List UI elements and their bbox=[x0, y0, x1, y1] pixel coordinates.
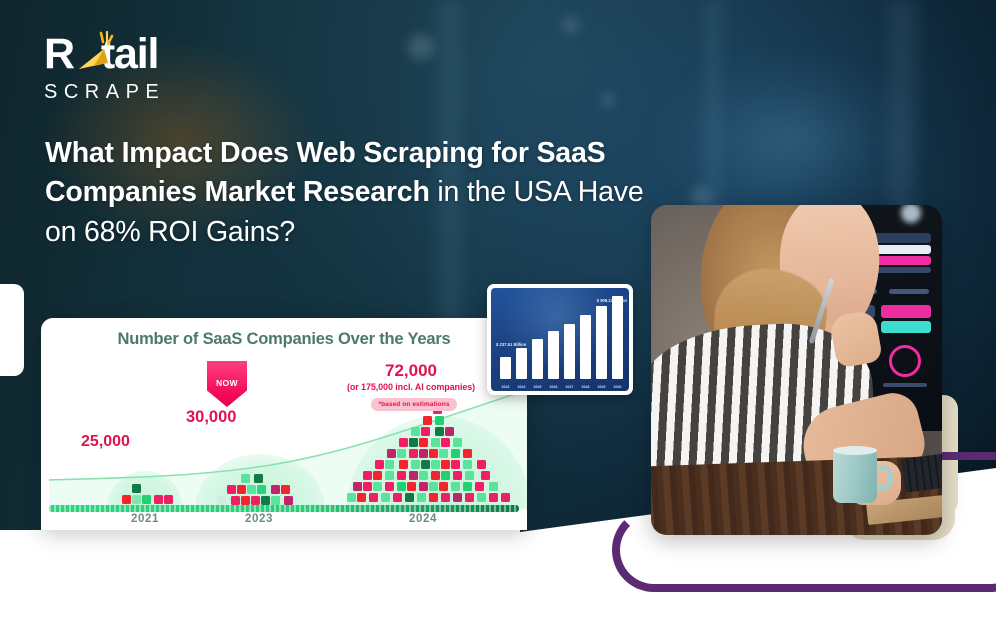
market-bar bbox=[516, 348, 527, 379]
pixel bbox=[441, 493, 450, 502]
market-x-tick: 2026 bbox=[546, 385, 561, 389]
pixel bbox=[419, 482, 428, 491]
pixel bbox=[419, 438, 428, 447]
market-x-tick: 2029 bbox=[594, 385, 609, 389]
value-label-2024: 72,000 bbox=[337, 361, 485, 381]
now-marker-label: NOW bbox=[207, 378, 247, 388]
pixel bbox=[375, 460, 384, 469]
brand-name-main: R bbox=[44, 30, 74, 78]
bg-orb bbox=[600, 92, 616, 108]
pixel bbox=[397, 449, 406, 458]
pixel bbox=[423, 416, 432, 425]
promo-banner: Rtail SCRAPE What Impact Does Web Scrapi… bbox=[0, 0, 996, 618]
pixel bbox=[501, 493, 510, 502]
pixel bbox=[164, 495, 173, 504]
pixel bbox=[409, 471, 418, 480]
pixel bbox=[441, 460, 450, 469]
pixel bbox=[227, 485, 236, 494]
chart-plot-area: 25,000 NOW 30,000 72,000 (or 175,000 inc… bbox=[41, 358, 527, 530]
pixel bbox=[271, 496, 280, 505]
pixel bbox=[419, 471, 428, 480]
pixel bbox=[357, 493, 366, 502]
pixel bbox=[465, 471, 474, 480]
pixel bbox=[481, 471, 490, 480]
market-bar bbox=[564, 324, 575, 379]
pixel bbox=[122, 495, 131, 504]
pixel bbox=[363, 471, 372, 480]
party-popper-icon bbox=[74, 29, 120, 75]
market-bar bbox=[612, 296, 623, 379]
brand-wordmark: Rtail bbox=[44, 33, 158, 76]
pixel bbox=[417, 493, 426, 502]
photo-mug-rim bbox=[833, 446, 877, 455]
pixel bbox=[451, 482, 460, 491]
pixel bbox=[489, 482, 498, 491]
pixel bbox=[347, 493, 356, 502]
market-x-tick: 2027 bbox=[562, 385, 577, 389]
value-label-2023: 30,000 bbox=[186, 408, 236, 427]
saas-companies-chart-card: Number of SaaS Companies Over the Years bbox=[41, 318, 527, 530]
pixel bbox=[399, 460, 408, 469]
pixel bbox=[409, 449, 418, 458]
photo-ui-chip bbox=[881, 305, 931, 318]
pixel bbox=[385, 460, 394, 469]
market-bar bbox=[596, 306, 607, 379]
page-title: What Impact Does Web Scraping for SaaS C… bbox=[45, 134, 655, 252]
photo-ui-glow bbox=[901, 205, 921, 223]
pixel bbox=[441, 438, 450, 447]
market-x-tick: 2030 bbox=[610, 385, 625, 389]
pixel bbox=[463, 460, 472, 469]
brand-tagline: SCRAPE bbox=[44, 81, 244, 104]
pixel bbox=[453, 471, 462, 480]
market-bar bbox=[532, 339, 543, 379]
pixel bbox=[369, 493, 378, 502]
pixel bbox=[251, 496, 260, 505]
x-tick-2024: 2024 bbox=[397, 513, 449, 525]
market-x-tick: 2023 bbox=[498, 385, 513, 389]
market-size-first-value: $ 237.51 Billion bbox=[496, 342, 530, 347]
pixel bbox=[419, 449, 428, 458]
pixel bbox=[463, 482, 472, 491]
pixel bbox=[411, 460, 420, 469]
pixel bbox=[441, 471, 450, 480]
bg-orb bbox=[562, 16, 580, 34]
pixel bbox=[241, 474, 250, 483]
pixel bbox=[142, 495, 151, 504]
pixel bbox=[261, 496, 270, 505]
pixel bbox=[381, 493, 390, 502]
pixel bbox=[431, 471, 440, 480]
pixel bbox=[489, 493, 498, 502]
pixel bbox=[237, 485, 246, 494]
estimation-badge: *based on estimations bbox=[371, 398, 457, 411]
pixel bbox=[393, 493, 402, 502]
pixel bbox=[231, 496, 240, 505]
pixel bbox=[387, 449, 396, 458]
market-size-chart-card: $ 237.51 Billion $ 908.24 Billion 2023 2… bbox=[487, 284, 633, 395]
photo-ui-chip bbox=[883, 383, 927, 387]
market-x-tick: 2025 bbox=[530, 385, 545, 389]
pixel bbox=[257, 485, 266, 494]
pixel bbox=[431, 438, 440, 447]
pixel bbox=[451, 460, 460, 469]
pixel bbox=[247, 485, 256, 494]
chart-title: Number of SaaS Companies Over the Years bbox=[41, 330, 527, 349]
pixel bbox=[271, 485, 280, 494]
pixel bbox=[241, 496, 250, 505]
pixel bbox=[385, 471, 394, 480]
hero-photo bbox=[651, 205, 942, 535]
brand-logo[interactable]: Rtail SCRAPE bbox=[44, 33, 244, 104]
pixel bbox=[421, 460, 430, 469]
pixel bbox=[439, 449, 448, 458]
pixel bbox=[435, 427, 444, 436]
pixel bbox=[217, 496, 226, 505]
photo-mug-handle bbox=[873, 465, 893, 491]
pixel bbox=[429, 493, 438, 502]
x-tick-2023: 2023 bbox=[233, 513, 285, 525]
pixel bbox=[397, 471, 406, 480]
bg-orb bbox=[408, 34, 434, 60]
pixel bbox=[132, 495, 141, 504]
pixel bbox=[409, 438, 418, 447]
pixel bbox=[453, 438, 462, 447]
pixel bbox=[363, 482, 372, 491]
value-label-2021: 25,000 bbox=[81, 433, 130, 451]
pixel bbox=[421, 427, 430, 436]
pixel bbox=[373, 471, 382, 480]
pixel bbox=[463, 449, 472, 458]
pixel bbox=[465, 493, 474, 502]
market-bar bbox=[500, 357, 511, 379]
pixel bbox=[385, 482, 394, 491]
market-x-tick: 2028 bbox=[578, 385, 593, 389]
pixel bbox=[453, 493, 462, 502]
pixel bbox=[477, 493, 486, 502]
pixel bbox=[132, 484, 141, 493]
x-tick-2021: 2021 bbox=[119, 513, 171, 525]
pixel bbox=[477, 460, 486, 469]
pixel bbox=[429, 449, 438, 458]
chart-baseline-texture bbox=[49, 505, 519, 512]
pixel bbox=[439, 482, 448, 491]
market-bar bbox=[580, 315, 591, 379]
photo-ui-donut bbox=[889, 345, 921, 377]
photo-ui-chip bbox=[881, 321, 931, 333]
photo-mug bbox=[833, 451, 877, 503]
pixel bbox=[411, 427, 420, 436]
now-marker: NOW bbox=[207, 361, 247, 407]
left-white-notch bbox=[0, 284, 24, 376]
pixel bbox=[475, 482, 484, 491]
pixel bbox=[154, 495, 163, 504]
pixel bbox=[435, 416, 444, 425]
pixel bbox=[254, 474, 263, 483]
pixel bbox=[373, 482, 382, 491]
pixel bbox=[397, 482, 406, 491]
pixel bbox=[281, 485, 290, 494]
pixel bbox=[451, 449, 460, 458]
value-sublabel-2024: (or 175,000 incl. AI companies) bbox=[313, 382, 509, 392]
photo-keyboard bbox=[901, 451, 942, 492]
pixel bbox=[405, 493, 414, 502]
market-size-plot: $ 237.51 Billion $ 908.24 Billion 2023 2… bbox=[491, 288, 629, 391]
market-bar bbox=[548, 331, 559, 379]
photo-ui-chip bbox=[889, 289, 929, 294]
pixel bbox=[445, 427, 454, 436]
pixel bbox=[429, 482, 438, 491]
pixel bbox=[431, 460, 440, 469]
pixel bbox=[399, 438, 408, 447]
pixel bbox=[407, 482, 416, 491]
market-x-tick: 2024 bbox=[514, 385, 529, 389]
pixel bbox=[353, 482, 362, 491]
pixel bbox=[284, 496, 293, 505]
